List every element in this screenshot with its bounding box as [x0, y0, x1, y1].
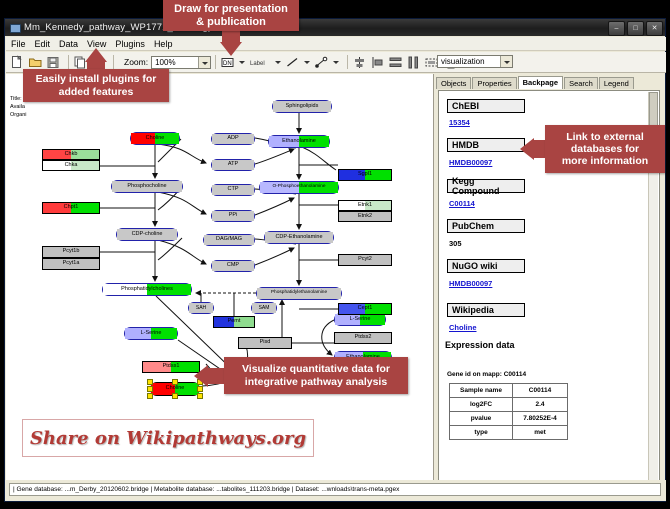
node-label: SAH	[196, 306, 206, 311]
metabolite-node[interactable]: Sphingolipids	[272, 100, 332, 113]
node-label: Choline	[146, 136, 165, 142]
menu-item-edit[interactable]: Edit	[35, 39, 51, 49]
callout-share-wikipathways: Share on Wikipathways.org	[22, 419, 314, 457]
tab-objects[interactable]: Objects	[436, 77, 471, 89]
callout-draw-arrow-icon	[220, 42, 242, 56]
selection-handle[interactable]	[147, 379, 153, 385]
node-label: Ptdss1	[163, 364, 180, 370]
node-label: Phosphocholine	[127, 184, 166, 190]
callout-draw-line1: Draw for presentation	[174, 3, 288, 15]
node-label: Pemt	[228, 319, 241, 325]
cell-key-log2fc: log2FC	[450, 398, 513, 412]
cell-key-sample-name: Sample name	[450, 384, 513, 398]
node-label: CMP	[227, 263, 239, 269]
callout-visualize-line2: integrative pathway analysis	[245, 376, 387, 388]
callout-link-line1: Link to external	[566, 131, 644, 143]
minimize-button[interactable]: –	[608, 21, 625, 36]
node-label: O-Phosphoethanolamine	[272, 185, 325, 190]
chevron-down-icon-line[interactable]	[304, 61, 310, 64]
svg-text:Label: Label	[250, 61, 265, 67]
callout-link-line3: more information	[562, 155, 648, 167]
db-link-wikipedia[interactable]: Choline	[449, 323, 477, 332]
metabolite-node[interactable]: Phosphocholine	[111, 180, 183, 193]
distribute-vertical-icon[interactable]	[388, 55, 403, 70]
gene-node[interactable]: Sgpl1	[338, 169, 392, 181]
node-label: Phosphatidylethanolamine	[271, 291, 327, 296]
gene-node[interactable]: Ptdss2	[334, 332, 392, 344]
chevron-down-icon-label[interactable]	[275, 61, 281, 64]
gene-id-line: Gene id on mapp: C00114	[447, 371, 526, 378]
metabolite-node[interactable]: Phosphatidylcholines	[102, 283, 192, 296]
callout-share-text: Share on Wikipathways.org	[30, 428, 306, 449]
gene-node[interactable]: Pcyt1b	[42, 246, 100, 258]
callout-plugins-line1: Easily install plugins for	[36, 73, 157, 85]
callout-plugins-arrow-icon	[85, 48, 107, 62]
menu-item-data[interactable]: Data	[59, 39, 78, 49]
application-icon	[9, 22, 20, 33]
node-label: Chpt1	[64, 205, 79, 211]
callout-visualize-data: Visualize quantitative data for integrat…	[224, 357, 408, 394]
tab-properties[interactable]: Properties	[472, 77, 516, 89]
callout-link-line2: databases for	[571, 143, 639, 155]
metabolite-node[interactable]: Choline	[130, 132, 180, 145]
gene-node[interactable]: Etnk1	[338, 200, 392, 211]
cell-key-pvalue: pvalue	[450, 412, 513, 426]
anchor-icon[interactable]	[314, 55, 329, 70]
node-label: Ptdss2	[355, 335, 372, 341]
menu-item-plugins[interactable]: Plugins	[115, 39, 145, 49]
metabolite-node[interactable]: Phosphatidylethanolamine	[256, 287, 342, 300]
node-label: Chka	[65, 163, 78, 169]
node-label: L-Serine	[141, 331, 162, 337]
zoom-value: 100%	[155, 58, 175, 67]
metabolite-node[interactable]: ATP	[211, 159, 255, 171]
db-value-pubchem: 305	[449, 239, 462, 248]
chevron-down-icon-visualization[interactable]	[500, 56, 512, 67]
metabolite-node[interactable]: SAM	[251, 302, 277, 314]
node-label: Choline	[166, 386, 185, 392]
callout-visualize-line1: Visualize quantitative data for	[242, 363, 390, 375]
status-bar: | Gene database: ...m_Derby_20120602.bri…	[6, 480, 666, 501]
db-header-wikipedia: Wikipedia	[447, 303, 525, 317]
callout-plugins-line2: added features	[59, 86, 134, 98]
line-icon[interactable]	[285, 55, 300, 70]
toolbar-separator-1	[68, 55, 69, 69]
callout-visualize-arrow-icon	[194, 365, 208, 387]
label-icon[interactable]: Label	[249, 55, 271, 70]
table-row: Sample name C00114	[450, 384, 568, 398]
gene-node[interactable]: Pemt	[213, 316, 255, 328]
node-label: Pcyt1b	[63, 249, 80, 255]
selection-handle[interactable]	[147, 393, 153, 399]
gene-node[interactable]: Chka	[42, 160, 100, 171]
gene-node[interactable]: Pcyt2	[338, 254, 392, 266]
visualization-combobox[interactable]: visualization	[437, 55, 513, 68]
node-label: CDP-Ethanolamine	[275, 235, 322, 241]
db-link-kegg[interactable]: C00114	[449, 199, 475, 208]
node-label: Etnk1	[358, 203, 372, 209]
new-file-icon[interactable]	[10, 55, 25, 70]
node-label: Cept1	[358, 306, 373, 312]
selection-handle[interactable]	[172, 393, 178, 399]
callout-install-plugins: Easily install plugins for added feature…	[23, 69, 169, 102]
metabolite-node[interactable]: CMP	[211, 260, 255, 272]
metabolite-node[interactable]: DAG/MAG	[203, 234, 255, 246]
metabolite-node[interactable]: SAH	[188, 302, 214, 314]
title-bar: Mm_Kennedy_pathway_WP1771_45176.gpml – □…	[5, 19, 665, 36]
menu-item-view[interactable]: View	[87, 39, 106, 49]
cell-value-log2fc: 2.4	[513, 398, 568, 412]
callout-draw-for-presentation: Draw for presentation & publication	[163, 0, 299, 31]
db-header-hmdb: HMDB	[447, 138, 525, 152]
db-header-chebi: ChEBI	[447, 99, 525, 113]
cell-value-type: met	[513, 426, 568, 440]
close-button[interactable]: ✕	[646, 21, 663, 36]
gene-node[interactable]: Ptdss1	[142, 361, 200, 373]
tab-backpage[interactable]: Backpage	[518, 76, 563, 89]
tab-search[interactable]: Search	[564, 77, 598, 89]
maximize-button[interactable]: □	[627, 21, 644, 36]
menu-item-file[interactable]: File	[11, 39, 26, 49]
db-link-chebi[interactable]: 15354	[449, 118, 470, 127]
node-label: Pcyt1a	[63, 261, 80, 267]
metabolite-node[interactable]: Ethanolamine	[268, 135, 330, 148]
cell-value-pvalue: 7.80252E-4	[513, 412, 568, 426]
chevron-down-icon-datanode[interactable]	[239, 61, 245, 64]
chevron-down-icon-anchor[interactable]	[333, 61, 339, 64]
screenshot-root: Mm_Kennedy_pathway_WP1771_45176.gpml – □…	[0, 0, 670, 509]
table-row: type met	[450, 426, 568, 440]
gene-node[interactable]: Cept1	[338, 303, 392, 315]
gene-node[interactable]: Pisd	[238, 337, 292, 349]
node-label: CDP-choline	[132, 232, 163, 238]
cell-key-type: type	[450, 426, 513, 440]
datanode-icon[interactable]: DN	[220, 55, 235, 70]
gene-node[interactable]: Chpt1	[42, 202, 100, 214]
zoom-label: Zoom:	[124, 57, 148, 67]
cell-value-sample-name: C00114	[513, 384, 568, 398]
expression-data-header: Expression data	[445, 340, 515, 350]
db-header-kegg: Kegg Compound	[447, 179, 525, 193]
node-label: Pcyt2	[358, 257, 372, 263]
expression-table: Sample name C00114 log2FC 2.4 pvalue 7.8…	[449, 383, 568, 440]
align-left-icon[interactable]	[370, 55, 385, 70]
node-label: ADP	[227, 136, 238, 142]
selection-handle[interactable]	[172, 379, 178, 385]
node-label: Phosphatidylcholines	[121, 287, 173, 293]
metabolite-node[interactable]: PPi	[211, 210, 255, 222]
node-label: Chkb	[65, 152, 78, 158]
callout-link-external-db: Link to external databases for more info…	[545, 125, 665, 173]
window-buttons: – □ ✕	[608, 21, 663, 36]
table-row: pvalue 7.80252E-4	[450, 412, 568, 426]
metabolite-node[interactable]: CDP-Ethanolamine	[264, 231, 334, 244]
svg-text:DN: DN	[223, 61, 232, 67]
metabolite-node[interactable]: ADP	[211, 133, 255, 145]
menu-item-help[interactable]: Help	[154, 39, 173, 49]
db-link-nugo[interactable]: HMDB00097	[449, 279, 492, 288]
db-header-pubchem: PubChem	[447, 219, 525, 233]
toolbar-separator-2	[113, 55, 114, 69]
db-header-nugo: NuGO wiki	[447, 259, 525, 273]
selection-handle[interactable]	[197, 393, 203, 399]
status-bar-text: | Gene database: ...m_Derby_20120602.bri…	[9, 483, 661, 496]
gene-node[interactable]: Chkb	[42, 149, 100, 160]
callout-draw-line2: & publication	[196, 16, 266, 28]
distribute-horizontal-icon[interactable]	[406, 55, 421, 70]
node-label: L-Serine	[350, 317, 371, 323]
node-label: ATP	[228, 162, 238, 168]
gene-node[interactable]: Pcyt1a	[42, 258, 100, 270]
visualization-value: visualization	[441, 57, 485, 66]
table-row: log2FC 2.4	[450, 398, 568, 412]
metabolite-node[interactable]: O-Phosphoethanolamine	[259, 181, 339, 194]
align-center-icon[interactable]	[352, 55, 367, 70]
metabolite-node[interactable]: CDP-choline	[116, 228, 178, 241]
callout-link-arrow-icon	[520, 138, 534, 160]
node-label: Sphingolipids	[286, 104, 319, 110]
node-label: CTP	[228, 187, 239, 193]
node-label: Ethanolamine	[282, 139, 316, 145]
node-label: Sgpl1	[358, 172, 372, 178]
toolbar-separator-4	[347, 55, 348, 69]
gene-node[interactable]: Etnk2	[338, 211, 392, 222]
node-label: Pisd	[260, 340, 271, 346]
node-label: SAM	[259, 306, 270, 311]
metabolite-node[interactable]: CTP	[211, 184, 255, 196]
metabolite-node[interactable]: L-Serine	[124, 327, 178, 340]
side-panel-tabs: Objects Properties Backpage Search Legen…	[436, 76, 635, 89]
node-label: Etnk2	[358, 214, 372, 220]
db-link-hmdb[interactable]: HMDB00097	[449, 158, 492, 167]
node-label: DAG/MAG	[216, 237, 242, 243]
toolbar-separator-3	[215, 55, 216, 69]
zoom-combobox[interactable]: 100%	[151, 56, 211, 69]
node-label: PPi	[229, 213, 238, 219]
tab-legend[interactable]: Legend	[599, 77, 634, 89]
save-icon[interactable]	[46, 55, 61, 70]
chevron-down-icon[interactable]	[198, 57, 210, 68]
selection-handle[interactable]	[147, 386, 153, 392]
open-folder-icon[interactable]	[28, 55, 43, 70]
